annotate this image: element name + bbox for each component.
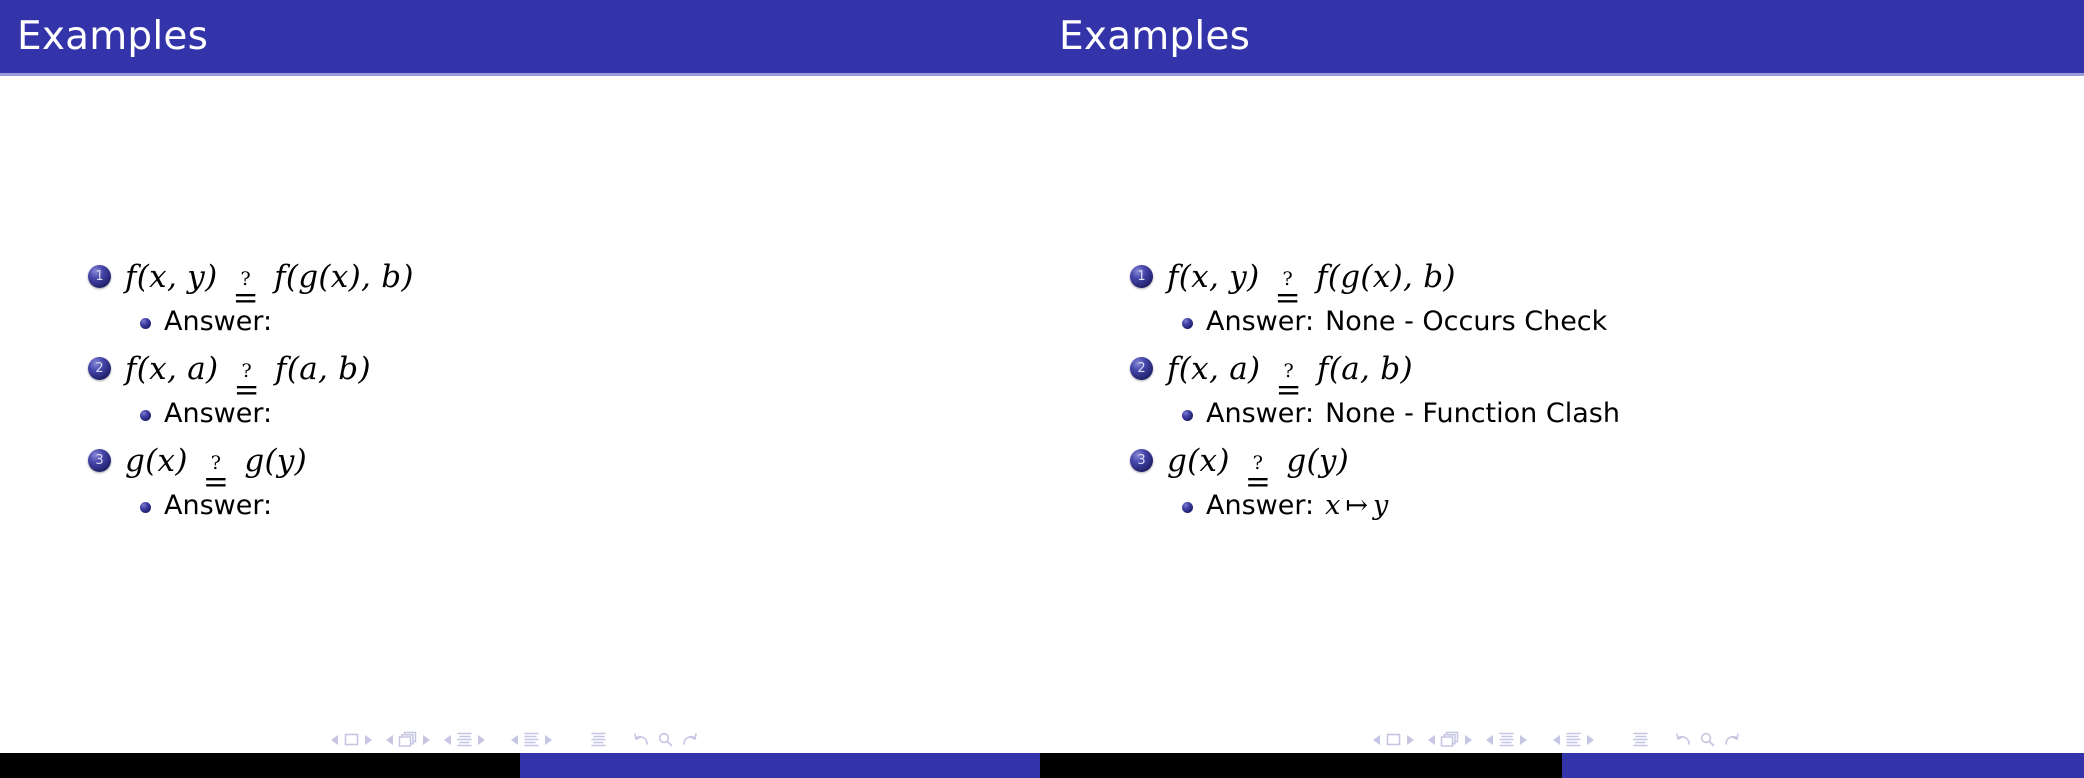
slide-prev-icon[interactable] [331, 735, 338, 745]
footer-strip [0, 753, 2084, 778]
equals-sign: = [1276, 379, 1302, 401]
nav-group-history[interactable] [1675, 731, 1740, 748]
nav-group-frame[interactable] [1428, 731, 1472, 748]
answer-text: Answer: [164, 393, 283, 435]
answer-text: Answer: [164, 301, 283, 343]
slide-right: Examples 1 f(x, y) ? = f(g(x), b [1042, 0, 2084, 778]
slide-next-icon[interactable] [1407, 735, 1414, 745]
bullet-dot-icon [140, 410, 151, 421]
section-icon[interactable] [523, 731, 540, 748]
beamer-navigation-bar[interactable] [1042, 731, 2084, 748]
footer-segment [0, 753, 520, 778]
back-icon[interactable] [633, 731, 652, 748]
slide-next-icon[interactable] [365, 735, 372, 745]
beamer-navigation-bar[interactable] [0, 731, 1042, 748]
frame-prev-icon[interactable] [386, 735, 393, 745]
equation-lhs-fn: f [1167, 351, 1179, 387]
bullet-dot-icon [140, 502, 151, 513]
nav-group-presentation[interactable] [590, 731, 607, 748]
answer-row: Answer: [140, 301, 1028, 343]
forward-icon[interactable] [679, 731, 698, 748]
answer-row: Answer:None - Function Clash [1182, 393, 2070, 435]
subsection-icon[interactable] [456, 731, 473, 748]
frame-icon[interactable] [1440, 731, 1460, 748]
nav-group-frame[interactable] [386, 731, 430, 748]
question-equals-icon: ? = [233, 273, 259, 309]
slide-left-body: 1 f(x, y) ? = f(g(x), b) [0, 76, 1042, 706]
equals-sign: = [1275, 287, 1301, 309]
enum-row: 1 f(x, y) ? = f(g(x), b) [88, 253, 1028, 301]
section-next-icon[interactable] [545, 735, 552, 745]
answer-value: None - Occurs Check [1325, 306, 1607, 337]
search-icon[interactable] [1699, 731, 1716, 748]
equals-sign: = [233, 287, 259, 309]
nav-group-section[interactable] [1553, 731, 1594, 748]
slide-right-frame-title: Examples [1059, 14, 1250, 59]
equation-rhs: g(y) [1286, 443, 1349, 479]
enum-row: 2 f(x, a) ? = f(a, b) [1130, 345, 2070, 393]
nav-group-subsection[interactable] [444, 731, 485, 748]
question-equals-icon: ? = [1245, 457, 1271, 493]
answer-row: Answer:x↦y [1182, 485, 2070, 527]
footer-segment [1562, 753, 2084, 778]
nav-group-section[interactable] [511, 731, 552, 748]
equation-rhs: f(g(x), b) [1316, 259, 1456, 295]
equation-lhs-args: (x) [1187, 443, 1230, 479]
list-item: 2 f(x, a) ? = f(a, b) [1130, 345, 2070, 435]
list-item: 2 f(x, a) ? = f(a, b) [88, 345, 1028, 435]
slide-left-frame-title: Examples [17, 14, 208, 59]
equation-lhs-fn: f [125, 351, 137, 387]
answer-row: Answer: [140, 485, 1028, 527]
frame-icon[interactable] [398, 731, 418, 748]
equation-lhs-args: (x, a) [1179, 351, 1261, 387]
enumerate-badge-icon: 3 [88, 449, 111, 472]
equals-sign: = [203, 471, 229, 493]
section-prev-icon[interactable] [1553, 735, 1560, 745]
slide-left-header-bar: Examples [0, 0, 1042, 73]
slide-left: Examples 1 f(x, y) ? = f(g(x), b [0, 0, 1042, 778]
equation-lhs-fn: f [1167, 259, 1179, 295]
presentation-icon[interactable] [590, 731, 607, 748]
list-item: 1 f(x, y) ? = f(g(x), b) [1130, 253, 2070, 343]
answer-substitution-to: y [1373, 490, 1388, 521]
slide-right-header-bar: Examples [1042, 0, 2084, 73]
subsection-prev-icon[interactable] [1486, 735, 1493, 745]
presentation-icon[interactable] [1632, 731, 1649, 748]
nav-group-subsection[interactable] [1486, 731, 1527, 748]
equation-lhs-args: (x) [145, 443, 188, 479]
answer-text: Answer:None - Occurs Check [1206, 301, 1607, 343]
nav-group-history[interactable] [633, 731, 698, 748]
subsection-next-icon[interactable] [478, 735, 485, 745]
equation-lhs-args: (x, y) [137, 259, 218, 295]
footer-segment [520, 753, 1040, 778]
question-equals-icon: ? = [234, 365, 260, 401]
mapsto-icon: ↦ [1345, 490, 1368, 521]
equals-sign: = [234, 379, 260, 401]
equation-lhs-args: (x, y) [1179, 259, 1260, 295]
enum-row: 3 g(x) ? = g(y) [1130, 437, 2070, 485]
enumerate-badge-icon: 1 [1130, 265, 1153, 288]
equation-rhs: f(g(x), b) [274, 259, 414, 295]
equation-lhs-args: (x, a) [137, 351, 219, 387]
section-icon[interactable] [1565, 731, 1582, 748]
answer-value: None - Function Clash [1325, 398, 1620, 429]
back-icon[interactable] [1675, 731, 1694, 748]
equation-lhs-fn: g [125, 443, 145, 479]
question-equals-icon: ? = [1276, 365, 1302, 401]
bullet-dot-icon [140, 318, 151, 329]
slide-right-enumerate-list: 1 f(x, y) ? = f(g(x), b) [1130, 253, 2070, 529]
frame-next-icon[interactable] [1465, 735, 1472, 745]
bullet-dot-icon [1182, 318, 1193, 329]
frame-prev-icon[interactable] [1428, 735, 1435, 745]
equation-rhs: g(y) [244, 443, 307, 479]
subsection-prev-icon[interactable] [444, 735, 451, 745]
section-next-icon[interactable] [1587, 735, 1594, 745]
footer-segment [1040, 753, 1562, 778]
search-icon[interactable] [657, 731, 674, 748]
nav-group-slide[interactable] [331, 732, 372, 747]
enum-row: 3 g(x) ? = g(y) [88, 437, 1028, 485]
subsection-next-icon[interactable] [1520, 735, 1527, 745]
slide-left-enumerate-list: 1 f(x, y) ? = f(g(x), b) [88, 253, 1028, 529]
nav-group-presentation[interactable] [1632, 731, 1649, 748]
question-equals-icon: ? = [203, 457, 229, 493]
forward-icon[interactable] [1721, 731, 1740, 748]
answer-row: Answer: [140, 393, 1028, 435]
enum-row: 2 f(x, a) ? = f(a, b) [88, 345, 1028, 393]
list-item: 3 g(x) ? = g(y) Answer [88, 437, 1028, 527]
question-equals-icon: ? = [1275, 273, 1301, 309]
enum-row: 1 f(x, y) ? = f(g(x), b) [1130, 253, 2070, 301]
enumerate-badge-icon: 1 [88, 265, 111, 288]
slide-right-body: 1 f(x, y) ? = f(g(x), b) [1042, 76, 2084, 706]
answer-text: Answer:x↦y [1206, 485, 1388, 527]
presentation-screen: Examples 1 f(x, y) ? = f(g(x), b [0, 0, 2084, 778]
enumerate-badge-icon: 3 [1130, 449, 1153, 472]
equation-lhs-fn: g [1167, 443, 1187, 479]
equation-lhs-fn: f [125, 259, 137, 295]
nav-group-slide[interactable] [1373, 732, 1414, 747]
equation-rhs: f(a, b) [275, 351, 371, 387]
bullet-dot-icon [1182, 410, 1193, 421]
frame-next-icon[interactable] [423, 735, 430, 745]
equation-rhs: f(a, b) [1317, 351, 1413, 387]
list-item: 3 g(x) ? = g(y) Answer [1130, 437, 2070, 527]
slide-prev-icon[interactable] [1373, 735, 1380, 745]
equation: f(x, a) ? = f(a, b) [125, 345, 371, 403]
slide-icon[interactable] [1385, 732, 1402, 747]
answer-substitution-from: x [1325, 490, 1340, 521]
slide-icon[interactable] [343, 732, 360, 747]
enumerate-badge-icon: 2 [88, 357, 111, 380]
list-item: 1 f(x, y) ? = f(g(x), b) [88, 253, 1028, 343]
subsection-icon[interactable] [1498, 731, 1515, 748]
answer-row: Answer:None - Occurs Check [1182, 301, 2070, 343]
equals-sign: = [1245, 471, 1271, 493]
enumerate-badge-icon: 2 [1130, 357, 1153, 380]
answer-text: Answer:None - Function Clash [1206, 393, 1620, 435]
bullet-dot-icon [1182, 502, 1193, 513]
section-prev-icon[interactable] [511, 735, 518, 745]
